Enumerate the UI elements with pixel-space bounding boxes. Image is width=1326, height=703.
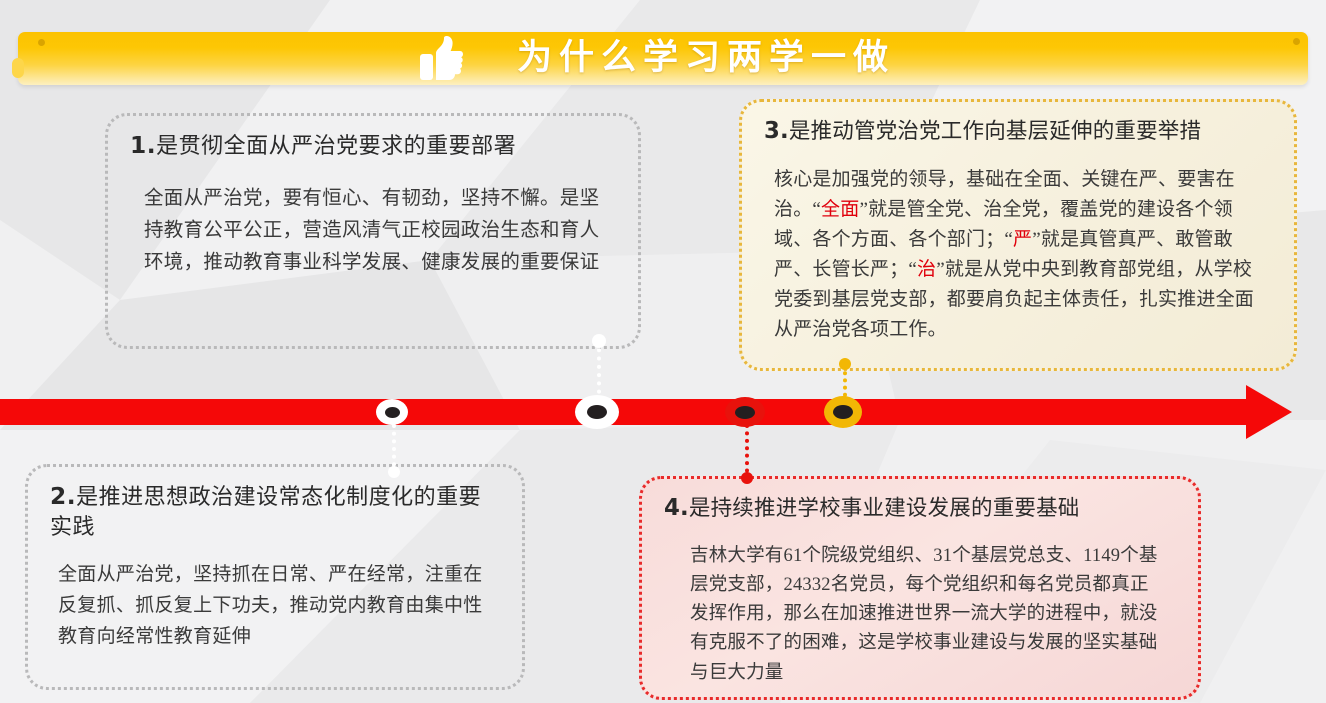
banner-corner-dot-left bbox=[38, 39, 45, 46]
info-card-1[interactable]: 1.是贯彻全面从严治党要求的重要部署 全面从严治党，要有恒心、有韧劲，坚持不懈。… bbox=[105, 113, 641, 349]
info-card-2[interactable]: 2.是推进思想政治建设常态化制度化的重要实践 全面从严治党，坚持抓在日常、严在经… bbox=[25, 464, 525, 690]
card-4-title: 4.是持续推进学校事业建设发展的重要基础 bbox=[664, 493, 1176, 524]
connector-card-1 bbox=[597, 340, 601, 402]
connector-end-card-1 bbox=[592, 334, 606, 348]
connector-end-card-3 bbox=[839, 358, 851, 370]
banner-corner-dot-right bbox=[1293, 38, 1300, 45]
card-1-number: 1. bbox=[130, 132, 156, 159]
timeline-marker-core bbox=[587, 405, 607, 419]
thumbs-up-icon bbox=[419, 36, 463, 82]
timeline-bar bbox=[0, 399, 1252, 425]
timeline-arrow-icon bbox=[1246, 385, 1292, 439]
card-4-body: 吉林大学有61个院级党组织、31个基层党总支、1149个基层党支部，24332名… bbox=[664, 532, 1176, 688]
card-3-number: 3. bbox=[764, 118, 789, 144]
card-4-number: 4. bbox=[664, 495, 689, 521]
card-3-title: 3.是推动管党治党工作向基层延伸的重要举措 bbox=[764, 116, 1272, 147]
infographic-canvas: 为什么学习两学一做 1.是贯彻全面从严治党要求的重要部署 全面从严治党，要有恒心… bbox=[0, 0, 1326, 703]
timeline-axis bbox=[0, 399, 1326, 425]
info-card-4[interactable]: 4.是持续推进学校事业建设发展的重要基础 吉林大学有61个院级党组织、31个基层… bbox=[639, 476, 1201, 700]
text-run: 严 bbox=[1013, 229, 1032, 250]
timeline-marker-card-3[interactable] bbox=[824, 396, 862, 428]
card-1-body: 全面从严治党，要有恒心、有韧劲，坚持不懈。是坚持教育公平公正，营造风清气正校园政… bbox=[130, 169, 616, 278]
timeline-marker-core bbox=[833, 405, 853, 419]
card-3-title-text: 是推动管党治党工作向基层延伸的重要举措 bbox=[789, 119, 1201, 143]
timeline-marker-card-1[interactable] bbox=[575, 395, 619, 429]
card-4-title-text: 是持续推进学校事业建设发展的重要基础 bbox=[689, 496, 1080, 520]
card-3-body: 核心是加强党的领导，基础在全面、关键在严、要害在治。“全面”就是管全党、治全党，… bbox=[764, 155, 1272, 345]
info-card-3[interactable]: 3.是推动管党治党工作向基层延伸的重要举措 核心是加强党的领导，基础在全面、关键… bbox=[739, 99, 1297, 371]
header-banner: 为什么学习两学一做 bbox=[18, 32, 1308, 85]
card-2-number: 2. bbox=[50, 483, 76, 510]
timeline-marker-core bbox=[385, 407, 400, 418]
connector-end-card-4 bbox=[741, 472, 753, 484]
card-1-title-text: 是贯彻全面从严治党要求的重要部署 bbox=[156, 133, 516, 158]
timeline-marker-card-4[interactable] bbox=[725, 397, 765, 427]
connector-end-card-2 bbox=[388, 466, 400, 478]
card-2-body: 全面从严治党，坚持抓在日常、严在经常，注重在反复抓、抓反复上下功夫，推动党内教育… bbox=[50, 550, 500, 652]
timeline-marker-core bbox=[735, 406, 755, 419]
card-2-title-text: 是推进思想政治建设常态化制度化的重要实践 bbox=[50, 484, 481, 539]
card-2-title: 2.是推进思想政治建设常态化制度化的重要实践 bbox=[50, 481, 500, 542]
page-title: 为什么学习两学一做 bbox=[517, 41, 895, 76]
text-run: 治 bbox=[917, 259, 936, 280]
banner-nub-left bbox=[12, 58, 24, 78]
text-run: 全面 bbox=[821, 199, 859, 220]
card-1-title: 1.是贯彻全面从严治党要求的重要部署 bbox=[130, 130, 616, 161]
timeline-marker-card-2[interactable] bbox=[376, 399, 408, 425]
